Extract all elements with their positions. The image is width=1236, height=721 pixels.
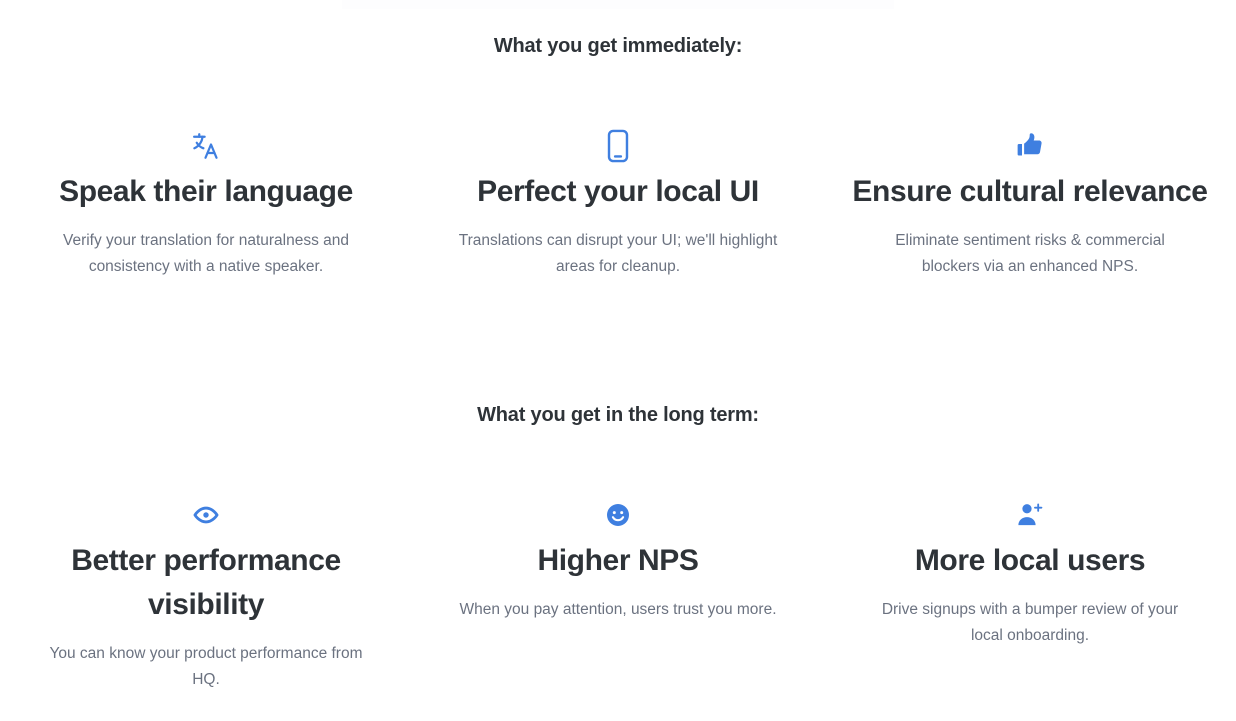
benefit-card-better-performance-visibility: Better performance visibility You can kn… [0,495,412,693]
section-heading-immediate: What you get immediately: [0,35,1236,58]
benefit-grid-immediate: Speak their language Verify your transla… [0,126,1236,280]
mobile-phone-icon [432,126,804,166]
benefit-card-speak-their-language: Speak their language Verify your transla… [0,126,412,280]
benefit-card-title: Speak their language [20,170,392,214]
benefit-card-title: Better performance visibility [20,539,392,627]
benefit-grid-long-term: Better performance visibility You can kn… [0,495,1236,693]
eye-icon [20,495,392,535]
benefit-card-higher-nps: Higher NPS When you pay attention, users… [412,495,824,693]
benefit-card-perfect-your-local-ui: Perfect your local UI Translations can d… [412,126,824,280]
add-user-icon [844,495,1216,535]
benefit-card-description: You can know your product performance fr… [41,641,371,693]
benefit-card-description: Eliminate sentiment risks & commercial b… [865,228,1195,280]
top-edge-band [342,0,894,9]
translate-icon [20,126,392,166]
benefit-card-title: Ensure cultural relevance [844,170,1216,214]
benefit-card-title: Perfect your local UI [432,170,804,214]
section-heading-long-term: What you get in the long term: [0,404,1236,427]
benefit-card-description: Drive signups with a bumper review of yo… [865,597,1195,649]
smiley-face-icon [432,495,804,535]
benefits-page: What you get immediately: Speak their la… [0,0,1236,721]
benefit-card-description: When you pay attention, users trust you … [453,597,783,623]
benefit-card-more-local-users: More local users Drive signups with a bu… [824,495,1236,693]
thumbs-up-icon [844,126,1216,166]
benefit-card-title: Higher NPS [432,539,804,583]
benefit-card-description: Translations can disrupt your UI; we'll … [453,228,783,280]
benefit-card-ensure-cultural-relevance: Ensure cultural relevance Eliminate sent… [824,126,1236,280]
benefit-card-title: More local users [844,539,1216,583]
benefit-card-description: Verify your translation for naturalness … [41,228,371,280]
